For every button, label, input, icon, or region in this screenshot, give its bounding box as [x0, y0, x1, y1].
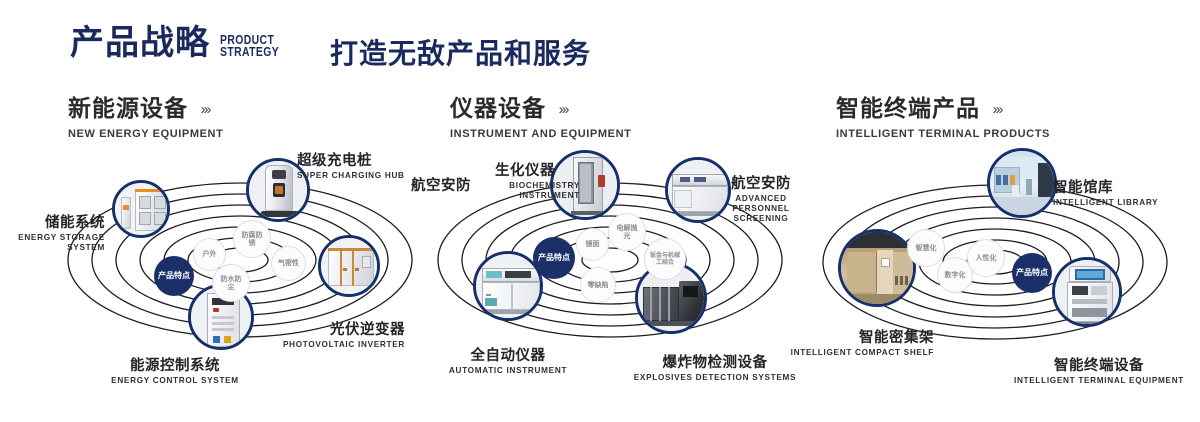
pv-inverter-cabinet-photo [321, 238, 377, 294]
node-photovoltaic-inverter[interactable] [318, 235, 380, 297]
feature-bubble-core: 产品特点 [533, 237, 575, 279]
label-energy-storage-system: 储能系统 ENERGY STORAGE SYSTEM [0, 215, 105, 253]
label-automatic-instrument: 全自动仪器 AUTOMATIC INSTRUMENT [408, 348, 608, 376]
section-title-cn: 仪器设备 [450, 96, 546, 122]
node-intelligent-compact-shelf[interactable] [838, 229, 916, 307]
section-title-en: INSTRUMENT AND EQUIPMENT [450, 128, 631, 140]
section-title-instrument: 仪器设备 ››› INSTRUMENT AND EQUIPMENT [450, 96, 631, 140]
feature-bubble-mirror: 镜面 [576, 228, 609, 261]
node-energy-storage-system[interactable] [112, 180, 170, 238]
page-subtitle: 打造无敌产品和服务 [330, 32, 591, 72]
page-header: 产品战略 PRODUCT STRATEGY [70, 26, 294, 60]
feature-bubble-smart: 智慧化 [907, 229, 945, 267]
page-title-en-line2: STRATEGY [220, 46, 279, 58]
label-explosives-detection-systems: 爆炸物检测设备 EXPLOSIVES DETECTION SYSTEMS [610, 355, 820, 383]
node-intelligent-library[interactable] [987, 148, 1057, 218]
label-biochemistry-instrument: 生化仪器 BIOCHEMISTRY INSTRUMENT [470, 163, 580, 201]
label-aviation-security-left: 航空安防 [411, 178, 471, 195]
feature-bubble-anticorrosion: 防腐防锈 [233, 220, 271, 258]
label-photovoltaic-inverter: 光伏逆变器 PHOTOVOLTAIC INVERTER [190, 322, 405, 350]
section-title-en: NEW ENERGY EQUIPMENT [68, 128, 223, 140]
product-strategy-infographic: 产品战略 PRODUCT STRATEGY 打造无敌产品和服务 新能源设备 ››… [0, 0, 1200, 422]
section-title-cn: 新能源设备 [68, 96, 188, 122]
label-energy-control-system: 能源控制系统 ENERGY CONTROL SYSTEM [60, 358, 290, 386]
feature-bubble-airtight: 气密性 [271, 246, 306, 281]
section-title-cn: 智能终端产品 [836, 96, 980, 122]
chevron-right-icon: ››› [992, 101, 1001, 118]
node-intelligent-terminal-equipment[interactable] [1052, 257, 1122, 327]
feature-bubble-humanized: 人性化 [967, 239, 1005, 277]
section-title-new-energy: 新能源设备 ››› NEW ENERGY EQUIPMENT [68, 96, 223, 140]
page-title-en: PRODUCT STRATEGY [220, 34, 279, 58]
feature-bubble-electropolish: 电解抛光 [608, 213, 646, 251]
energy-storage-cabinet-photo [115, 183, 167, 235]
library-room-photo [990, 151, 1054, 215]
compact-shelf-photo [841, 232, 913, 304]
label-intelligent-terminal-equipment: 智能终端设备 INTELLIGENT TERMINAL EQUIPMENT [1000, 358, 1198, 386]
feature-bubble-core: 产品特点 [154, 256, 194, 296]
section-title-en: INTELLIGENT TERMINAL PRODUCTS [836, 128, 1050, 140]
chevron-right-icon: ››› [200, 101, 209, 118]
feature-bubble-core: 产品特点 [1012, 253, 1052, 293]
page-title-cn: 产品战略 [70, 26, 210, 60]
chevron-right-icon: ››› [558, 101, 567, 118]
automatic-instrument-photo [476, 254, 540, 318]
section-title-intelligent-terminal: 智能终端产品 ››› INTELLIGENT TERMINAL PRODUCTS [836, 96, 1050, 140]
feature-bubble-sheetmetal: 钣金与机械工结合 [644, 238, 686, 280]
label-advanced-personnel-screening: 航空安防 ADVANCED PERSONNEL SCREENING [706, 176, 816, 224]
label-intelligent-library: 智能馆库 INTELLIGENT LIBRARY [1053, 180, 1158, 208]
feature-bubble-waterproof: 防水防尘 [212, 264, 250, 302]
terminal-kiosk-photo [1055, 260, 1119, 324]
feature-bubble-zero-defect: 零缺陷 [580, 267, 616, 303]
label-super-charging-hub: 超级充电桩 SUPER CHARGING HUB [297, 153, 405, 181]
label-intelligent-compact-shelf: 智能密集架 INTELLIGENT COMPACT SHELF [790, 330, 934, 358]
